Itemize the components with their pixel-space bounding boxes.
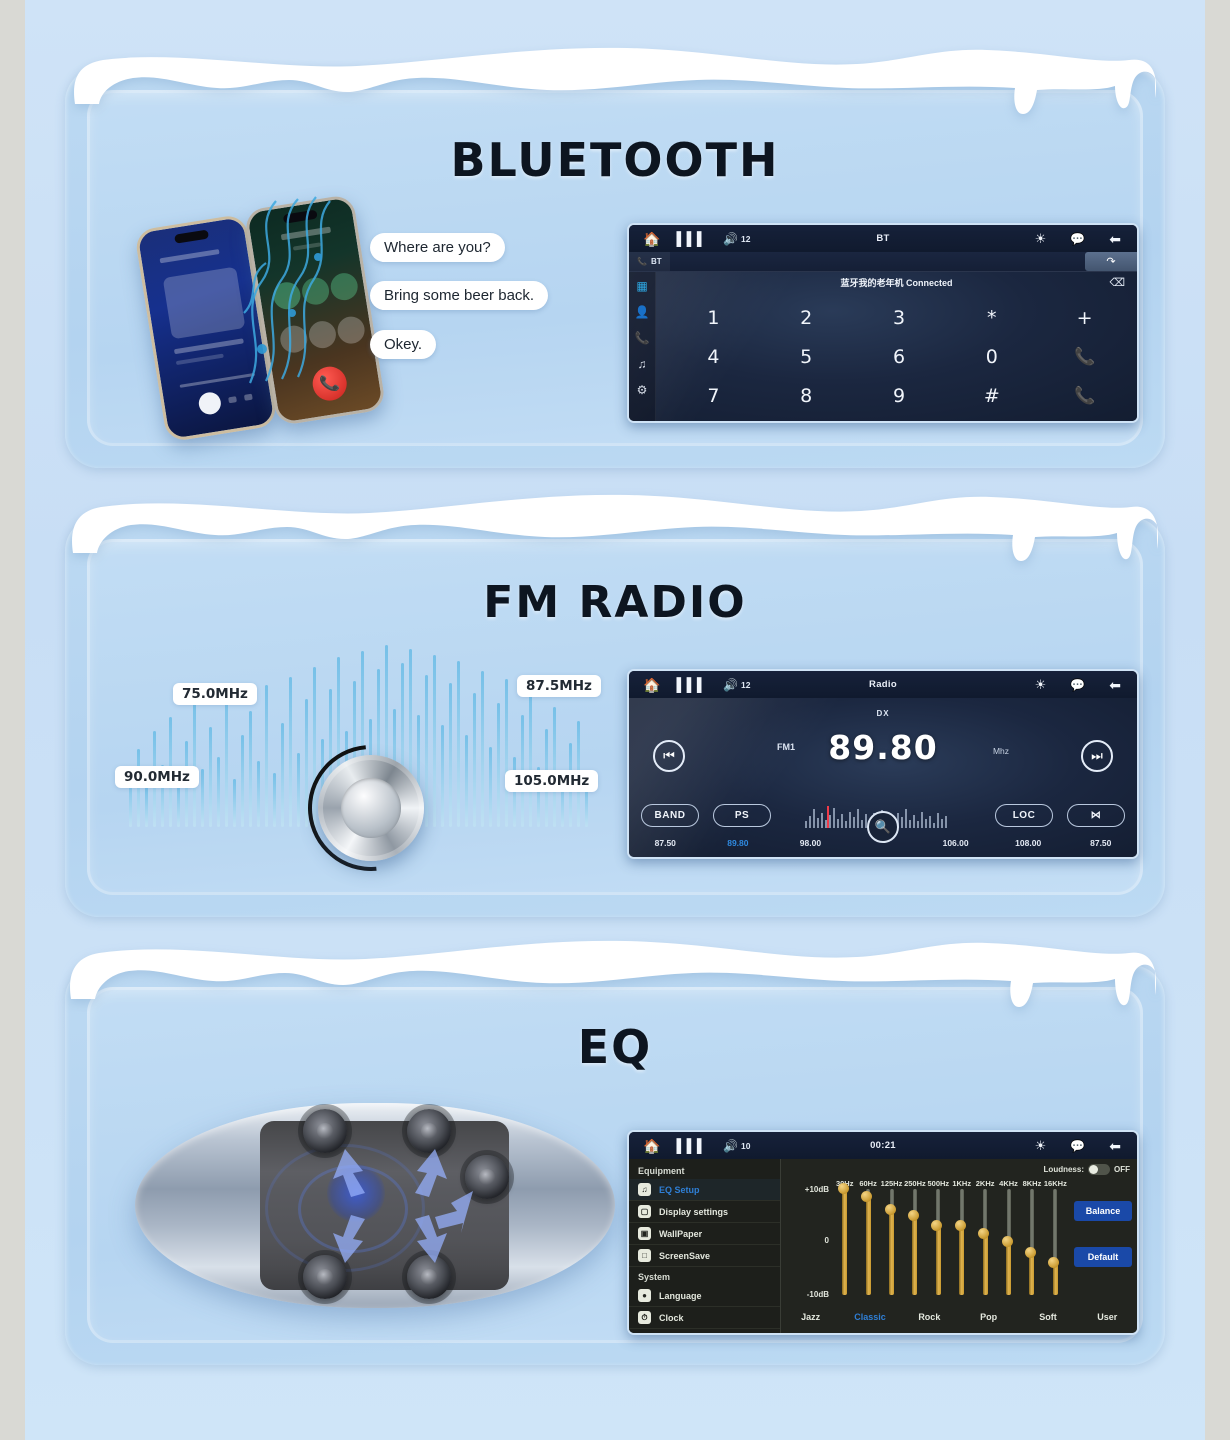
contacts-icon[interactable]: 👤 [635,305,650,319]
sidebar-item-screensave[interactable]: □ ScreenSave [629,1245,780,1267]
key-0[interactable]: 0 [986,346,998,368]
skip-previous-icon[interactable]: ⏮ [653,740,685,772]
eq-sliders[interactable] [833,1189,1067,1295]
call-history-icon[interactable]: 📞 [635,331,650,345]
phone-ui-line [176,354,224,365]
fm-radio-head-unit[interactable]: 🏠 ▌▌▌ 🔊 12 Radio ☀ 💬 ⬅ DX FM1 89.80 [627,669,1139,859]
eq-slider-knob[interactable] [955,1220,966,1231]
sidebar-item-label: ScreenSave [659,1251,710,1261]
page-canvas: BLUETOOTH [25,0,1205,1440]
eq-slider-fill [936,1226,941,1295]
head-unit-clock: 00:21 [629,1140,1137,1151]
preset-2[interactable]: 89.80 [702,838,775,848]
eq-band-labels: 30Hz 60Hz 125Hz 250Hz 500Hz 1KHz 2KHz 4K… [833,1179,1067,1188]
eq-slider-16khz[interactable] [1044,1189,1067,1295]
backspace-icon[interactable]: ⌫ [1109,276,1125,289]
sound-direction-arrows [285,1131,495,1281]
band-label-16khz: 16KHz [1044,1179,1067,1188]
forward-button [244,394,253,401]
eq-slider-125hz[interactable] [880,1189,903,1295]
eq-slider-fill [1006,1242,1011,1295]
wallpaper-icon: ▣ [638,1227,651,1240]
loc-button[interactable]: LOC [995,804,1053,827]
eq-slider-fill [983,1234,988,1295]
key-9[interactable]: 9 [893,385,905,407]
sidebar-item-eq-setup[interactable]: ♫ EQ Setup [629,1179,780,1201]
call-option [271,280,302,311]
eq-slider-fill [1029,1253,1034,1295]
preset-jazz[interactable]: Jazz [781,1312,840,1322]
section-title-fm-radio: FM RADIO [65,577,1165,628]
band-label-1khz: 1KHz [950,1179,973,1188]
axis-label-zero: 0 [825,1236,829,1245]
key-3[interactable]: 3 [893,307,905,329]
sidebar-group-equipment: Equipment [629,1161,780,1179]
key-1[interactable]: 1 [707,307,719,329]
band-label-2khz: 2KHz [973,1179,996,1188]
preset-pop[interactable]: Pop [959,1312,1018,1322]
band-label-4khz: 4KHz [997,1179,1020,1188]
radio-frequency: 89.80 [629,728,1137,767]
loudness-toggle[interactable] [1088,1164,1110,1175]
preset-soft[interactable]: Soft [1018,1312,1077,1322]
radio-presets[interactable]: 87.50 89.80 98.00 106.00 108.00 87.50 [629,831,1137,855]
eq-slider-fill [842,1189,847,1295]
hangup-button-icon[interactable]: 📞 [1074,386,1095,406]
dialpad[interactable]: 1 2 3 * + 4 5 6 0 📞 7 8 9 # 📞 [667,299,1131,415]
preset-3[interactable]: 98.00 [774,838,847,848]
eq-slider-500hz[interactable] [927,1189,950,1295]
eq-car-artwork [135,1103,615,1308]
eq-setup-icon: ♫ [638,1183,651,1196]
section-eq: EQ [65,935,1165,1365]
key-hash[interactable]: # [984,385,1000,407]
section-title-eq: EQ [65,1020,1165,1074]
head-unit-topbar: 🏠 ▌▌▌ 🔊 10 00:21 ☀ 💬 ⬅ [629,1132,1137,1159]
sidebar-item-label: WallPaper [659,1229,702,1239]
eq-slider-30hz[interactable] [833,1189,856,1295]
eq-slider-knob[interactable] [861,1191,872,1202]
loudness-label: Loudness: [1044,1165,1084,1174]
bluetooth-subbar: 📞 BT ↷ [629,252,1137,272]
chat-bubble-3: Okey. [370,330,436,359]
preset-user[interactable]: User [1078,1312,1137,1322]
key-8[interactable]: 8 [800,385,812,407]
freq-tag-75: 75.0MHz [173,683,257,705]
eq-slider-fill [866,1197,871,1295]
radio-dx-label: DX [629,709,1137,718]
preset-rock[interactable]: Rock [900,1312,959,1322]
eq-slider-knob[interactable] [885,1204,896,1215]
call-option [278,324,309,355]
freq-tag-105: 105.0MHz [505,770,598,792]
radio-screen-body: DX FM1 89.80 Mhz ⏮ ⏭ BAND PS LOC ⋈ [629,698,1137,857]
eq-presets[interactable]: Jazz Classic Rock Pop Soft User [781,1301,1137,1333]
section-fm-radio: FM RADIO 75.0MHz 87.5MHz 90.0MH [65,487,1165,917]
key-star[interactable]: * [987,307,997,329]
bt-chip-label: BT [651,257,662,266]
stereo-icon[interactable]: ⋈ [1067,804,1125,827]
bluetooth-sidebar: ▦ 👤 📞 ♫ ⚙ [629,272,656,421]
eq-slider-fill [959,1226,964,1295]
eq-slider-8khz[interactable] [1020,1189,1043,1295]
axis-label-max: +10dB [805,1185,829,1194]
sidebar-item-label: EQ Setup [659,1185,700,1195]
band-label-60hz: 60Hz [856,1179,879,1188]
return-icon[interactable]: ↷ [1085,252,1137,271]
sidebar-item-label: Display settings [659,1207,728,1217]
eq-slider-knob[interactable] [1002,1236,1013,1247]
caller-status [293,242,321,250]
radio-unit-label: Mhz [993,746,1009,756]
eq-head-unit[interactable]: 🏠 ▌▌▌ 🔊 10 00:21 ☀ 💬 ⬅ Equipment [627,1130,1139,1335]
sidebar-item-display-settings[interactable]: ▢ Display settings [629,1201,780,1223]
sidebar-item-clock[interactable]: ⏱ Clock [629,1307,780,1329]
band-label-125hz: 125Hz [880,1179,903,1188]
balance-button[interactable]: Balance [1074,1201,1132,1221]
key-5[interactable]: 5 [800,346,812,368]
chat-bubble-1: Where are you? [370,233,505,262]
eq-slider-1khz[interactable] [950,1189,973,1295]
bluetooth-screen-body: 📞 BT ↷ ▦ 👤 📞 ♫ ⚙ 蓝牙我的老年机 Connected ⌫ 1 2 [629,252,1137,421]
display-icon: ▢ [638,1205,651,1218]
loudness-state: OFF [1114,1165,1130,1174]
band-label-500hz: 500Hz [927,1179,950,1188]
key-2[interactable]: 2 [800,307,812,329]
sidebar-item-label: Clock [659,1313,684,1323]
bt-chip[interactable]: 📞 BT [629,252,670,271]
freq-tag-87-5: 87.5MHz [517,675,601,697]
preset-6[interactable]: 87.50 [1064,838,1137,848]
chat-bubble-2: Bring some beer back. [370,281,548,310]
freq-tag-90: 90.0MHz [115,766,199,788]
band-label-8khz: 8KHz [1020,1179,1043,1188]
preset-1[interactable]: 87.50 [629,838,702,848]
loudness-control[interactable]: Loudness: OFF [1044,1164,1130,1175]
section-title-bluetooth: BLUETOOTH [65,133,1165,187]
eq-slider-60hz[interactable] [856,1189,879,1295]
head-unit-topbar: 🏠 ▌▌▌ 🔊 12 BT ☀ 💬 ⬅ [629,225,1137,252]
bt-settings-icon[interactable]: ⚙ [637,383,648,397]
call-option [307,319,338,350]
bluetooth-phone-icon: 📞 [637,257,647,266]
sidebar-item-language[interactable]: ● Language [629,1285,780,1307]
section-bluetooth: BLUETOOTH [65,38,1165,468]
language-icon: ● [638,1289,651,1302]
eq-action-buttons: Balance Default [1074,1201,1132,1267]
play-button [197,391,222,416]
phone-notch [174,230,209,244]
next-button [228,396,237,403]
head-unit-topbar: 🏠 ▌▌▌ 🔊 12 Radio ☀ 💬 ⬅ [629,671,1137,698]
phone-notch [283,210,318,224]
preset-classic[interactable]: Classic [840,1312,899,1322]
default-button[interactable]: Default [1074,1247,1132,1267]
key-7[interactable]: 7 [707,385,719,407]
head-unit-title: Radio [629,679,1137,690]
call-option [300,276,331,307]
ps-button[interactable]: PS [713,804,771,827]
preset-4[interactable]: 106.00 [919,838,992,848]
clock-icon: ⏱ [638,1311,651,1324]
phone-ui-line [160,249,220,263]
screensave-icon: □ [638,1249,651,1262]
axis-label-min: -10dB [807,1290,829,1299]
eq-slider-fill [912,1216,917,1296]
album-art [163,267,246,340]
bluetooth-status-text: 蓝牙我的老年机 Connected [656,276,1137,289]
end-call-button: 📞 [310,364,349,403]
music-icon[interactable]: ♫ [638,357,647,371]
sidebar-group-system: System [629,1267,780,1285]
key-plus[interactable]: + [1077,307,1093,329]
call-option [329,271,360,302]
tuner-knob[interactable] [318,755,424,861]
caller-name [281,227,331,241]
sidebar-item-wallpaper[interactable]: ▣ WallPaper [629,1223,780,1245]
phone-ui-line [174,338,244,354]
band-label-250hz: 250Hz [903,1179,926,1188]
sidebar-item-label: Language [659,1291,702,1301]
tuning-cursor [827,806,829,828]
eq-slider-fill [889,1210,894,1295]
bluetooth-phones-artwork: 📞 [140,193,420,443]
band-button[interactable]: BAND [641,804,699,827]
eq-slider-knob[interactable] [908,1210,919,1221]
eq-axis: +10dB 0 -10dB [785,1189,831,1295]
bluetooth-head-unit[interactable]: 🏠 ▌▌▌ 🔊 12 BT ☀ 💬 ⬅ 📞 [627,223,1139,423]
key-6[interactable]: 6 [893,346,905,368]
eq-slider-4khz[interactable] [997,1189,1020,1295]
head-unit-title: BT [629,233,1137,244]
eq-screen-body: Equipment ♫ EQ Setup ▢ Display settings … [629,1159,1137,1333]
eq-slider-knob[interactable] [1025,1247,1036,1258]
key-4[interactable]: 4 [707,346,719,368]
eq-sidebar: Equipment ♫ EQ Setup ▢ Display settings … [629,1159,781,1333]
product-feature-page: BLUETOOTH [0,0,1230,1440]
call-button-icon[interactable]: 📞 [1074,347,1095,367]
eq-slider-knob[interactable] [838,1183,849,1194]
preset-5[interactable]: 108.00 [992,838,1065,848]
eq-slider-250hz[interactable] [903,1189,926,1295]
skip-next-icon[interactable]: ⏭ [1081,740,1113,772]
progress-bar [180,373,256,388]
eq-slider-2khz[interactable] [973,1189,996,1295]
dialpad-icon[interactable]: ▦ [636,279,647,293]
call-option [336,315,367,346]
